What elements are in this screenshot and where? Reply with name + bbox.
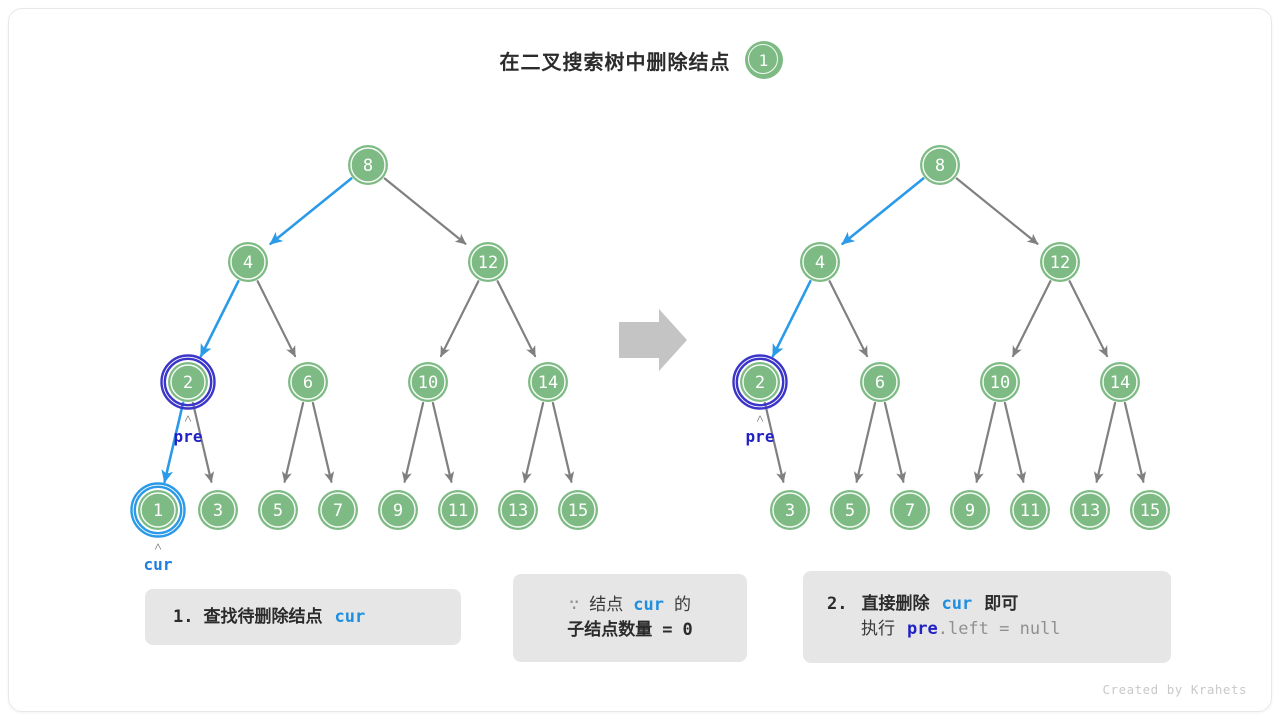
tree-edge: [843, 179, 924, 244]
tree-edge: [271, 179, 352, 244]
tree-node: 7: [318, 490, 358, 530]
caption-step-1-token: cur: [334, 607, 365, 627]
tree-node: 10: [408, 362, 448, 402]
tree-edge: [773, 281, 810, 356]
tree-edge: [441, 281, 478, 356]
caption-reason-count-label: 子结点数量: [567, 620, 652, 639]
node-label: 3: [213, 501, 223, 521]
tree-node: 5: [830, 490, 870, 530]
tree-node: 4: [800, 242, 840, 282]
node-label: 1: [153, 501, 163, 521]
node-label: 11: [1020, 501, 1040, 521]
tree-node: 6: [288, 362, 328, 402]
pointer-label-text: pre: [746, 427, 775, 446]
tree-node: 15: [558, 490, 598, 530]
node-label: 5: [273, 501, 283, 521]
tree-node: 15: [1130, 490, 1170, 530]
tree-node: 11: [1010, 490, 1050, 530]
pointer-pre: ˄pre: [174, 412, 203, 446]
pointer-label-text: cur: [144, 555, 173, 574]
node-label: 6: [875, 373, 885, 393]
tree-node: 10: [980, 362, 1020, 402]
caption-step-1: 1.查找待删除结点cur: [145, 589, 461, 645]
node-label: 4: [243, 253, 253, 273]
tree-edge: [201, 281, 238, 356]
tree-node: 3: [770, 490, 810, 530]
tree-edge: [1125, 403, 1143, 482]
pointer-cur: ˄cur: [144, 540, 173, 574]
tree-edge: [525, 403, 543, 482]
node-label: 2: [183, 373, 193, 393]
caption-step-2-line-2: 执行pre.left = null: [827, 617, 1171, 642]
tree-node: 14: [1100, 362, 1140, 402]
tree-node: 6: [860, 362, 900, 402]
tree-edge: [498, 281, 535, 356]
node-label: 7: [905, 501, 915, 521]
tree-edge: [1005, 403, 1023, 482]
node-label: 2: [755, 373, 765, 393]
node-label: 8: [363, 156, 373, 176]
node-label: 10: [418, 373, 438, 393]
node-label: 8: [935, 156, 945, 176]
caption-reason-text-a: 结点: [589, 595, 623, 614]
tree-node: 2: [162, 356, 215, 409]
node-label: 9: [965, 501, 975, 521]
node-label: 13: [1080, 501, 1100, 521]
right-block-arrow-icon: [619, 309, 687, 371]
pointer-pre: ˄pre: [746, 412, 775, 446]
caption-reason-equals: =: [662, 620, 672, 640]
tree-node: 3: [198, 490, 238, 530]
tree-edge: [285, 403, 303, 482]
caption-step-2-text-b: 即可: [984, 594, 1018, 613]
tree-edge: [553, 403, 571, 482]
tree-node: 2: [734, 356, 787, 409]
tree-edge: [1097, 403, 1115, 482]
caption-step-1-text: 查找待删除结点: [203, 607, 322, 626]
tree-node: 14: [528, 362, 568, 402]
tree-node: 12: [1040, 242, 1080, 282]
tree-node: 13: [498, 490, 538, 530]
tree-edge: [1013, 281, 1050, 356]
caption-step-1-line: 1.查找待删除结点cur: [173, 605, 461, 630]
tree-node: 5: [258, 490, 298, 530]
caption-reason-line-1: ∵结点cur的: [569, 593, 691, 618]
tree-edge: [957, 179, 1038, 244]
caption-step-2-exec-label: 执行: [861, 619, 895, 638]
tree-node: 12: [468, 242, 508, 282]
tree-node: 1: [132, 484, 185, 537]
node-label: 13: [508, 501, 528, 521]
credit-footer: Created by Krahets: [1103, 682, 1247, 697]
tree-edge: [385, 179, 466, 244]
tree-edge: [857, 403, 875, 482]
node-label: 4: [815, 253, 825, 273]
caption-step-2-number: 2.: [827, 594, 847, 614]
node-label: 6: [303, 373, 313, 393]
caption-reason-token: cur: [633, 595, 664, 615]
caption-step-2-token: cur: [941, 594, 972, 614]
tree-edge: [977, 403, 995, 482]
caption-step-2: 2.直接删除cur即可 执行pre.left = null: [803, 571, 1171, 663]
caption-reason-text-b: 的: [674, 595, 691, 614]
tree-node: 8: [920, 145, 960, 185]
node-label: 5: [845, 501, 855, 521]
tree-edge: [313, 403, 331, 482]
tree-edge: [405, 403, 423, 482]
caption-reason-count-value: 0: [683, 620, 693, 640]
tree-edge: [258, 281, 295, 356]
node-label: 11: [448, 501, 468, 521]
pointer-label-text: pre: [174, 427, 203, 446]
tree-node: 7: [890, 490, 930, 530]
caption-step-2-text-a: 直接删除: [861, 594, 929, 613]
node-label: 9: [393, 501, 403, 521]
node-label: 14: [538, 373, 558, 393]
caption-step-1-number: 1.: [173, 607, 193, 627]
tree-edge: [885, 403, 903, 482]
caption-reason: ∵结点cur的 子结点数量=0: [513, 574, 747, 662]
diagram-card: 在二叉搜索树中删除结点 1 ˄pre˄cur˄pre 8412261014135…: [8, 8, 1272, 712]
node-label: 12: [478, 253, 498, 273]
tree-edge: [1070, 281, 1107, 356]
tree-node: 9: [950, 490, 990, 530]
node-label: 10: [990, 373, 1010, 393]
node-label: 14: [1110, 373, 1130, 393]
tree-node: 11: [438, 490, 478, 530]
tree-edge: [433, 403, 451, 482]
node-label: 15: [1140, 501, 1160, 521]
caption-step-2-pre-token: pre: [907, 619, 938, 639]
tree-node: 9: [378, 490, 418, 530]
node-label: 15: [568, 501, 588, 521]
tree-node: 8: [348, 145, 388, 185]
because-symbol-icon: ∵: [569, 595, 579, 615]
tree-edge: [830, 281, 867, 356]
node-label: 7: [333, 501, 343, 521]
caption-reason-line-2: 子结点数量=0: [567, 618, 693, 643]
caret-up-icon: ˄: [184, 412, 191, 427]
caret-up-icon: ˄: [154, 540, 161, 555]
caption-step-2-code: .left = null: [938, 619, 1061, 639]
caption-step-2-line-1: 2.直接删除cur即可: [827, 592, 1171, 617]
caret-up-icon: ˄: [756, 412, 763, 427]
tree-node: 13: [1070, 490, 1110, 530]
node-label: 3: [785, 501, 795, 521]
node-label: 12: [1050, 253, 1070, 273]
tree-node: 4: [228, 242, 268, 282]
